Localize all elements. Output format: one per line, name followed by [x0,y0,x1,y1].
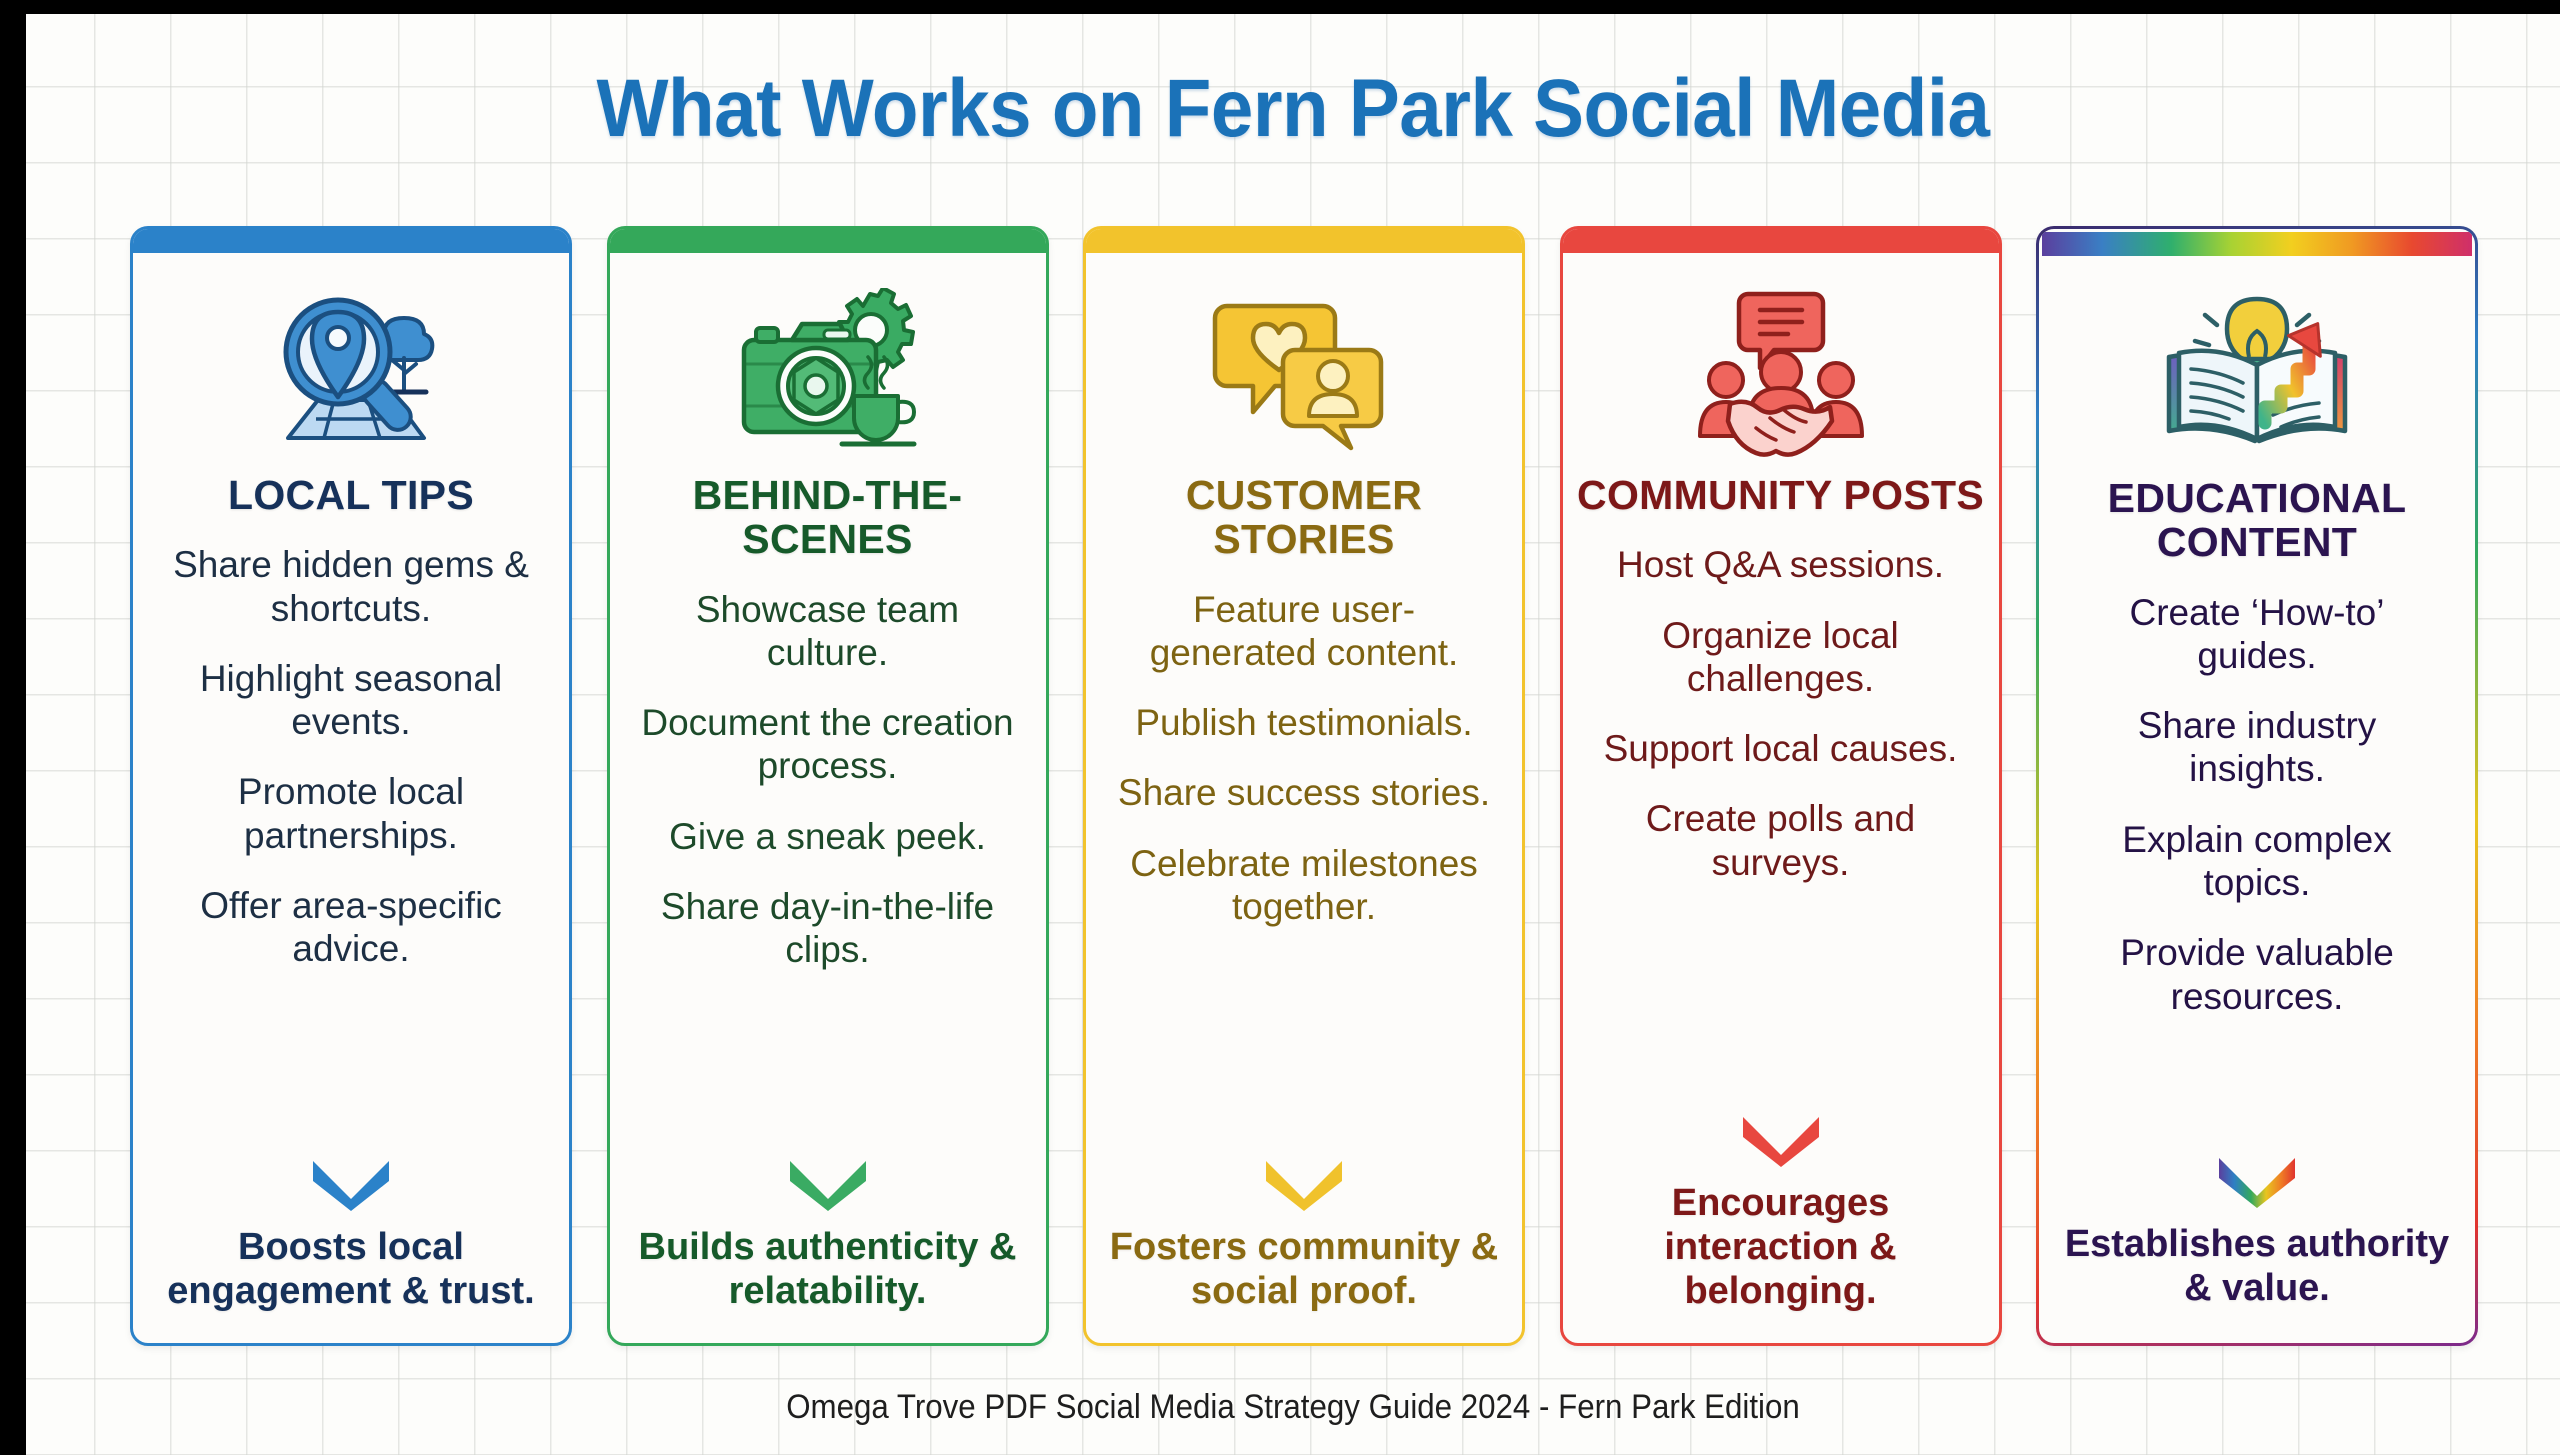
list-item: Share hidden gems & shortcuts. [157,543,545,630]
card-bullets: Create ‘How-to’ guides. Share industry i… [2042,565,2472,1152]
chevron-down-icon [784,1155,872,1211]
card-heading: EDUCATIONAL CONTENT [2042,476,2472,565]
chevron-down-icon [2213,1152,2301,1208]
card-bullets: Host Q&A sessions. Organize local challe… [1563,517,1999,1111]
list-item: Celebrate milestones together. [1110,842,1498,929]
people-handshake-speech-icon [1686,279,1876,467]
list-item: Create polls and surveys. [1587,797,1975,884]
card-bullets: Showcase team culture. Document the crea… [610,562,1046,1155]
card-educational-content[interactable]: EDUCATIONAL CONTENT Create ‘How-to’ guid… [2036,226,2478,1346]
list-item: Offer area-specific advice. [157,884,545,971]
list-item: Document the creation process. [634,701,1022,788]
list-item: Publish testimonials. [1135,701,1472,744]
list-item: Give a sneak peek. [669,815,986,858]
chevron-down-icon [307,1155,395,1211]
list-item: Share success stories. [1118,771,1490,814]
list-item: Feature user-generated content. [1110,588,1498,675]
card-community-posts[interactable]: COMMUNITY POSTS Host Q&A sessions. Organ… [1560,226,2002,1346]
image-frame: What Works on Fern Park Social Media [0,0,2560,1455]
list-item: Explain complex topics. [2066,818,2448,905]
card-customer-stories[interactable]: CUSTOMER STORIES Feature user-generated … [1083,226,1525,1346]
open-book-lightbulb-arrow-icon [2157,282,2357,470]
chevron-down-icon [1737,1111,1825,1167]
infographic-canvas: What Works on Fern Park Social Media [26,14,2560,1455]
card-bullets: Share hidden gems & shortcuts. Highlight… [133,517,569,1155]
card-row: LOCAL TIPS Share hidden gems & shortcuts… [130,226,2478,1346]
list-item: Promote local partnerships. [157,770,545,857]
list-item: Share industry insights. [2066,704,2448,791]
list-item: Highlight seasonal events. [157,657,545,744]
list-item: Create ‘How-to’ guides. [2066,591,2448,678]
list-item: Share day-in-the-life clips. [634,885,1022,972]
card-heading: LOCAL TIPS [214,473,488,517]
card-conclusion: Encourages interaction & belonging. [1563,1181,1999,1343]
page-title: What Works on Fern Park Social Media [115,62,2472,156]
card-conclusion: Boosts local engagement & trust. [133,1225,569,1343]
list-item: Provide valuable resources. [2066,931,2448,1018]
card-accent-bar [1086,229,1522,253]
map-pin-magnifier-tree-icon [256,279,446,467]
list-item: Organize local challenges. [1587,614,1975,701]
card-conclusion: Fosters community & social proof. [1086,1225,1522,1343]
speech-bubbles-heart-person-icon [1209,279,1399,467]
card-accent-bar [1563,229,1999,253]
card-heading: COMMUNITY POSTS [1563,473,1998,517]
card-heading: CUSTOMER STORIES [1086,473,1522,562]
card-conclusion: Builds authenticity & relatability. [610,1225,1046,1343]
list-item: Host Q&A sessions. [1617,543,1944,586]
card-bullets: Feature user-generated content. Publish … [1086,562,1522,1155]
card-behind-the-scenes[interactable]: BEHIND-THE-SCENES Showcase team culture.… [607,226,1049,1346]
list-item: Support local causes. [1604,727,1958,770]
list-item: Showcase team culture. [634,588,1022,675]
card-accent-bar [610,229,1046,253]
card-accent-bar [2042,232,2472,256]
card-local-tips[interactable]: LOCAL TIPS Share hidden gems & shortcuts… [130,226,572,1346]
card-heading: BEHIND-THE-SCENES [610,473,1046,562]
card-conclusion: Establishes authority & value. [2042,1222,2472,1340]
card-accent-bar [133,229,569,253]
chevron-down-icon [1260,1155,1348,1211]
camera-gear-coffee-icon [728,279,928,467]
footer-caption: Omega Trove PDF Social Media Strategy Gu… [127,1388,2458,1427]
